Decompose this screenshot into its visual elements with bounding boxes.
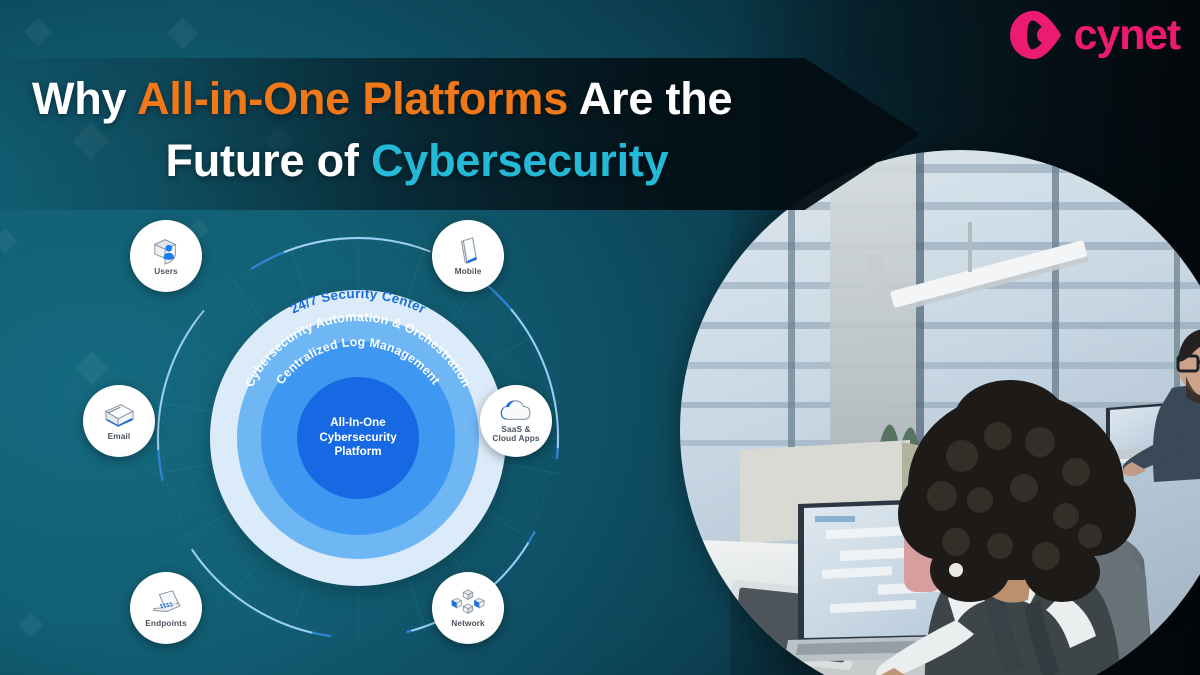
headline-text-accent-cyan: Cybersecurity [371, 135, 669, 186]
headline-line-2: Future of Cybersecurity [32, 130, 912, 192]
headline-line-1: Why All-in-One Platforms Are the [32, 73, 732, 124]
node-users[interactable]: Users [130, 220, 202, 292]
node-email[interactable]: Email [83, 385, 155, 457]
node-label-saas-line2: Cloud Apps [492, 433, 539, 443]
cynet-logo[interactable]: cynet [1007, 9, 1180, 61]
office-photo-illustration [680, 150, 1200, 675]
node-label-saas: SaaS & Cloud Apps [492, 425, 539, 444]
headline-text-accent-orange: All-in-One Platforms [137, 73, 568, 124]
node-label-mobile: Mobile [455, 267, 482, 276]
core-line-3: Platform [319, 445, 396, 460]
laptop-icon [149, 588, 183, 618]
node-network[interactable]: Network [432, 572, 504, 644]
slide-canvas: Why All-in-One Platforms Are the Future … [0, 0, 1200, 675]
node-label-users: Users [154, 267, 178, 276]
office-photo [680, 150, 1200, 675]
node-endpoints[interactable]: Endpoints [130, 572, 202, 644]
users-shield-icon [149, 236, 183, 266]
email-envelope-icon [102, 401, 136, 431]
headline-text-plain-3: Future of [165, 135, 370, 186]
node-label-email: Email [108, 432, 131, 441]
headline-text-plain-1: Why [32, 73, 137, 124]
node-mobile[interactable]: Mobile [432, 220, 504, 292]
platform-diagram: All-In-One Cybersecurity Platform 24/7 S… [85, 218, 635, 675]
headline-text-plain-2: Are the [568, 73, 732, 124]
core-platform-circle: All-In-One Cybersecurity Platform [297, 377, 419, 499]
network-cubes-icon [451, 588, 485, 618]
core-line-1: All-In-One [319, 416, 396, 431]
cynet-logo-text: cynet [1074, 14, 1180, 57]
cynet-eye-logo-icon [1007, 9, 1067, 61]
cloud-apps-icon [499, 399, 533, 423]
node-label-network: Network [451, 619, 484, 628]
page-title: Why All-in-One Platforms Are the Future … [32, 68, 912, 192]
core-platform-label: All-In-One Cybersecurity Platform [319, 416, 396, 460]
core-line-2: Cybersecurity [319, 431, 396, 446]
mobile-phone-icon [451, 236, 485, 266]
node-saas-cloud-apps[interactable]: SaaS & Cloud Apps [480, 385, 552, 457]
node-label-endpoints: Endpoints [145, 619, 186, 628]
